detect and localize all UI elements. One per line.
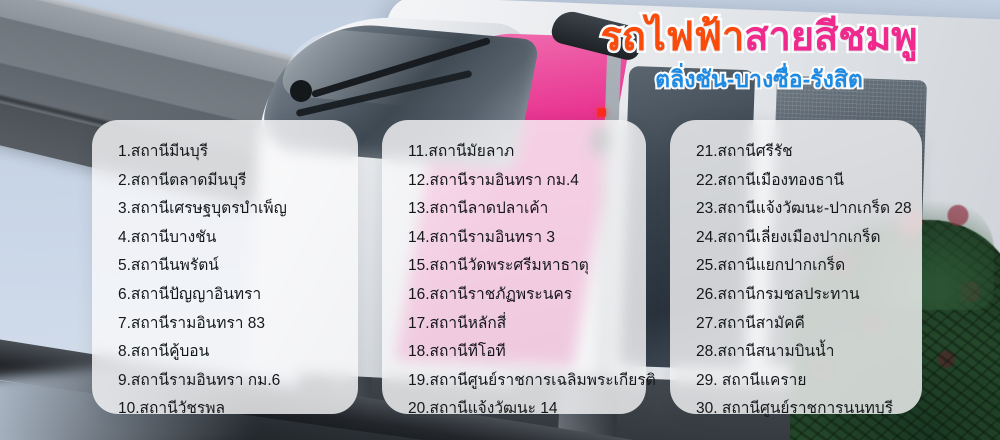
list-item[interactable]: 17.สถานีหลักสี่	[408, 310, 630, 339]
train-marker-light-icon	[597, 108, 606, 117]
list-item[interactable]: 9.สถานีรามอินทรา กม.6	[118, 367, 342, 396]
list-item[interactable]: 30. สถานีศูนย์ราชการนนทบุรี	[696, 395, 906, 424]
list-item[interactable]: 29. สถานีแคราย	[696, 367, 906, 396]
list-item[interactable]: 23.สถานีแจ้งวัฒนะ-ปากเกร็ด 28	[696, 195, 906, 224]
list-item[interactable]: 1.สถานีมีนบุรี	[118, 138, 342, 167]
list-item[interactable]: 18.สถานีทีโอที	[408, 338, 630, 367]
list-item[interactable]: 3.สถานีเศรษฐบุตรบำเพ็ญ	[118, 195, 342, 224]
station-list-cards: 1.สถานีมีนบุรี 2.สถานีตลาดมีนบุรี 3.สถาน…	[92, 120, 922, 414]
poster-stage: รถไฟฟ้าสายสีชมพู ตลิ่งชัน-บางซื่อ-รังสิต…	[0, 0, 1000, 440]
station-list-1: 1.สถานีมีนบุรี 2.สถานีตลาดมีนบุรี 3.สถาน…	[118, 138, 342, 424]
list-item[interactable]: 11.สถานีมัยลาภ	[408, 138, 630, 167]
list-item[interactable]: 22.สถานีเมืองทองธานี	[696, 167, 906, 196]
list-item[interactable]: 14.สถานีรามอินทรา 3	[408, 224, 630, 253]
page-title: รถไฟฟ้าสายสีชมพู	[544, 16, 974, 58]
wiper-pivot-icon	[290, 80, 312, 102]
list-item[interactable]: 25.สถานีแยกปากเกร็ด	[696, 252, 906, 281]
list-item[interactable]: 10.สถานีวัชรพล	[118, 395, 342, 424]
list-item[interactable]: 20.สถานีแจ้งวัฒนะ 14	[408, 395, 630, 424]
list-item[interactable]: 2.สถานีตลาดมีนบุรี	[118, 167, 342, 196]
list-item[interactable]: 26.สถานีกรมชลประทาน	[696, 281, 906, 310]
station-list-2: 11.สถานีมัยลาภ 12.สถานีรามอินทรา กม.4 13…	[408, 138, 630, 424]
page-subtitle: ตลิ่งชัน-บางซื่อ-รังสิต	[544, 62, 974, 98]
station-list-3: 21.สถานีศรีรัช 22.สถานีเมืองทองธานี 23.ส…	[696, 138, 906, 424]
list-item[interactable]: 15.สถานีวัดพระศรีมหาธาตุ	[408, 252, 630, 281]
station-card-column-1: 1.สถานีมีนบุรี 2.สถานีตลาดมีนบุรี 3.สถาน…	[92, 120, 358, 414]
list-item[interactable]: 16.สถานีราชภัฏพระนคร	[408, 281, 630, 310]
poster-title-block: รถไฟฟ้าสายสีชมพู ตลิ่งชัน-บางซื่อ-รังสิต	[544, 16, 974, 98]
list-item[interactable]: 24.สถานีเลี่ยงเมืองปากเกร็ด	[696, 224, 906, 253]
title-segment-pink: สายสีชมพู	[744, 15, 917, 59]
list-item[interactable]: 13.สถานีลาดปลาเค้า	[408, 195, 630, 224]
list-item[interactable]: 8.สถานีคู้บอน	[118, 338, 342, 367]
station-card-column-3: 21.สถานีศรีรัช 22.สถานีเมืองทองธานี 23.ส…	[670, 120, 922, 414]
list-item[interactable]: 12.สถานีรามอินทรา กม.4	[408, 167, 630, 196]
list-item[interactable]: 6.สถานีปัญญาอินทรา	[118, 281, 342, 310]
list-item[interactable]: 7.สถานีรามอินทรา 83	[118, 310, 342, 339]
list-item[interactable]: 5.สถานีนพรัตน์	[118, 252, 342, 281]
list-item[interactable]: 4.สถานีบางชัน	[118, 224, 342, 253]
list-item[interactable]: 21.สถานีศรีรัช	[696, 138, 906, 167]
title-segment-orange: รถไฟฟ้า	[601, 15, 745, 59]
list-item[interactable]: 27.สถานีสามัคคี	[696, 310, 906, 339]
station-card-column-2: 11.สถานีมัยลาภ 12.สถานีรามอินทรา กม.4 13…	[382, 120, 646, 414]
list-item[interactable]: 28.สถานีสนามบินน้ำ	[696, 338, 906, 367]
list-item[interactable]: 19.สถานีศูนย์ราชการเฉลิมพระเกียรติ	[408, 367, 630, 396]
